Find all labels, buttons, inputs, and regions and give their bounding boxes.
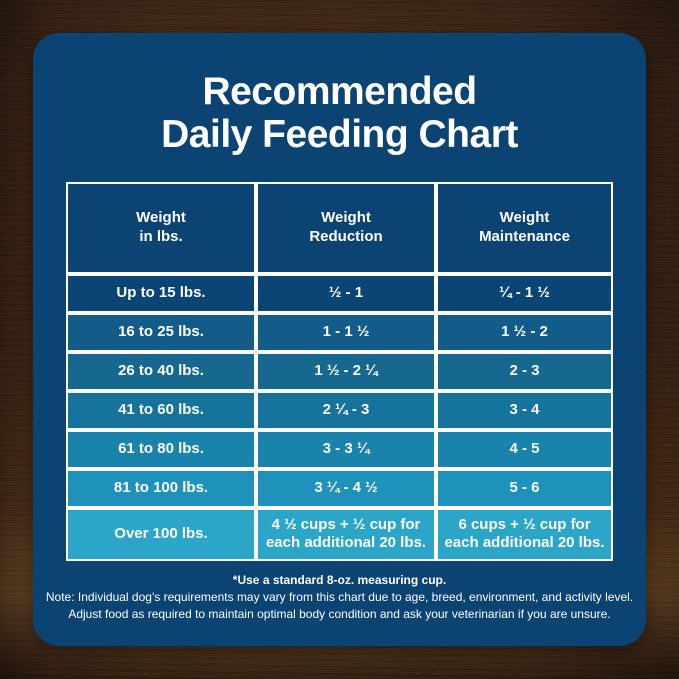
cell-maintenance: ¼ - 1 ½ [436, 274, 613, 313]
column-header-reduction-line-2: Reduction [309, 228, 382, 245]
column-header-weight-line-1: Weight [136, 209, 186, 226]
cell-reduction: 3 - 3 ¼ [256, 430, 436, 469]
column-header-maintenance-line-1: Weight [500, 209, 550, 226]
cell-weight: Over 100 lbs. [66, 508, 256, 561]
table-header-row: Weight in lbs. Weight Reduction Weight M… [66, 182, 613, 274]
table-body: Up to 15 lbs. ½ - 1 ¼ - 1 ½ 16 to 25 lbs… [66, 274, 613, 561]
cell-reduction: 2 ¼ - 3 [256, 391, 436, 430]
column-header-weight-reduction: Weight Reduction [256, 182, 436, 274]
cell-reduction: 1 - 1 ½ [256, 313, 436, 352]
footnotes: *Use a standard 8-oz. measuring cup. Not… [33, 572, 646, 624]
column-header-reduction-line-1: Weight [321, 209, 371, 226]
cell-weight: Up to 15 lbs. [66, 274, 256, 313]
cell-weight: 26 to 40 lbs. [66, 352, 256, 391]
cell-reduction: 4 ½ cups + ½ cup for each additional 20 … [256, 508, 436, 561]
table-row: Over 100 lbs. 4 ½ cups + ½ cup for each … [66, 508, 613, 561]
table-row: 41 to 60 lbs. 2 ¼ - 3 3 - 4 [66, 391, 613, 430]
page-title-line-2: Daily Feeding Chart [57, 114, 622, 157]
column-header-weight-maintenance: Weight Maintenance [436, 182, 613, 274]
cell-maintenance-line-2: each additional 20 lbs. [444, 534, 604, 551]
page-title: Recommended Daily Feeding Chart [33, 71, 646, 157]
cell-maintenance: 6 cups + ½ cup for each additional 20 lb… [436, 508, 613, 561]
cell-maintenance: 3 - 4 [436, 391, 613, 430]
cell-reduction-line-1: 4 ½ cups + ½ cup for [272, 516, 421, 533]
cell-weight: 81 to 100 lbs. [66, 469, 256, 508]
column-header-maintenance-line-2: Maintenance [479, 228, 570, 245]
table-row: Up to 15 lbs. ½ - 1 ¼ - 1 ½ [66, 274, 613, 313]
column-header-weight: Weight in lbs. [66, 182, 256, 274]
footnote-note-line-2: Adjust food as required to maintain opti… [45, 606, 634, 623]
cell-reduction: ½ - 1 [256, 274, 436, 313]
cell-reduction-line-2: each additional 20 lbs. [266, 534, 426, 551]
table-row: 16 to 25 lbs. 1 - 1 ½ 1 ½ - 2 [66, 313, 613, 352]
column-header-weight-line-2: in lbs. [139, 228, 182, 245]
page-title-line-1: Recommended [57, 71, 622, 114]
table-row: 81 to 100 lbs. 3 ¼ - 4 ½ 5 - 6 [66, 469, 613, 508]
table-header: Weight in lbs. Weight Reduction Weight M… [66, 182, 613, 274]
cell-reduction: 1 ½ - 2 ¼ [256, 352, 436, 391]
cell-maintenance: 5 - 6 [436, 469, 613, 508]
cell-weight: 61 to 80 lbs. [66, 430, 256, 469]
cell-maintenance: 2 - 3 [436, 352, 613, 391]
footnote-note-line-1: Note: Individual dog's requirements may … [45, 589, 634, 606]
feeding-chart-card: Recommended Daily Feeding Chart Weight i… [33, 33, 646, 646]
cell-weight: 41 to 60 lbs. [66, 391, 256, 430]
cell-maintenance: 1 ½ - 2 [436, 313, 613, 352]
footnote-measuring-cup: *Use a standard 8-oz. measuring cup. [45, 572, 634, 589]
cell-maintenance-line-1: 6 cups + ½ cup for [458, 516, 590, 533]
cell-weight: 16 to 25 lbs. [66, 313, 256, 352]
feeding-table: Weight in lbs. Weight Reduction Weight M… [66, 182, 613, 561]
table-row: 61 to 80 lbs. 3 - 3 ¼ 4 - 5 [66, 430, 613, 469]
cell-reduction: 3 ¼ - 4 ½ [256, 469, 436, 508]
cell-maintenance: 4 - 5 [436, 430, 613, 469]
table-row: 26 to 40 lbs. 1 ½ - 2 ¼ 2 - 3 [66, 352, 613, 391]
